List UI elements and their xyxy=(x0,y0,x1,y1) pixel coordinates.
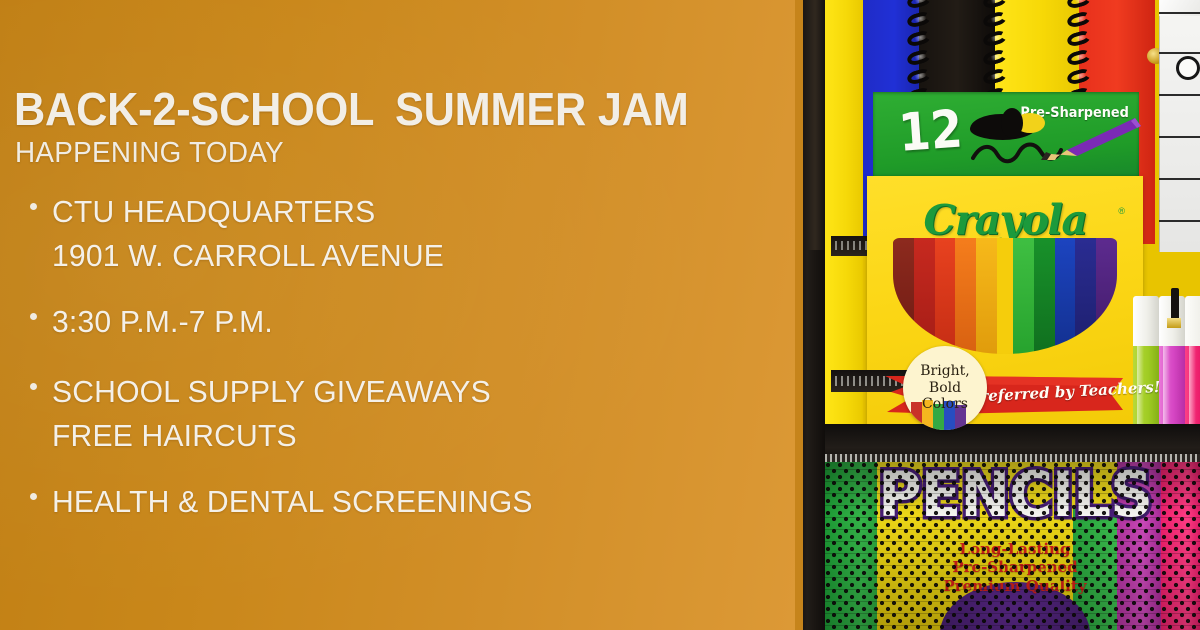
headline-primary: BACK-2-SCHOOL xyxy=(14,83,374,135)
photo-left-bleed xyxy=(795,0,803,630)
spiral-ring xyxy=(1066,29,1093,48)
crayon xyxy=(955,238,976,354)
subheadline: HAPPENING TODAY xyxy=(15,139,284,168)
list-item-line: HEALTH & DENTAL SCREENINGS xyxy=(52,480,747,524)
list-item: HEALTH & DENTAL SCREENINGS xyxy=(28,480,768,524)
bright-bold-colors-badge: Bright,BoldColors xyxy=(903,346,987,430)
purple-pencil-icon xyxy=(1033,116,1143,160)
binder-ring-icon xyxy=(1176,56,1200,80)
headline-secondary: SUMMER JAM xyxy=(395,83,689,135)
marker-cap xyxy=(1185,296,1200,348)
list-item-line: 3:30 P.M.-7 P.M. xyxy=(52,300,747,344)
school-supplies-photo: 12 Pre-Sharpened Crayola ® xyxy=(795,0,1200,630)
rule-line xyxy=(1159,178,1200,180)
page-title: BACK-2-SCHOOLSUMMER JAM xyxy=(14,86,689,132)
list-item-line: 1901 W. CARROLL AVENUE xyxy=(52,234,747,278)
pencils-features: Long-LastingPre-SharpenedPremium Quality xyxy=(943,540,1086,595)
list-item: SCHOOL SUPPLY GIVEAWAYS FREE HAIRCUTS xyxy=(28,370,768,458)
crayon xyxy=(1096,238,1117,354)
spiral-ring xyxy=(982,29,1009,48)
list-item: 3:30 P.M.-7 P.M. xyxy=(28,300,768,344)
list-item-line: CTU HEADQUARTERS xyxy=(52,190,747,234)
crayon xyxy=(1013,238,1034,354)
registered-trademark-icon: ® xyxy=(1118,206,1125,216)
spiral-ring xyxy=(1066,0,1093,10)
rule-line xyxy=(1159,94,1200,96)
rule-line xyxy=(1159,136,1200,138)
label-graphic-blob xyxy=(1001,108,1023,138)
crayon xyxy=(1075,238,1096,354)
rule-line xyxy=(1159,52,1200,54)
ruled-notebook xyxy=(1159,0,1200,252)
list-item-line: FREE HAIRCUTS xyxy=(52,414,747,458)
package-green-stripe xyxy=(825,462,877,630)
spiral-ring xyxy=(1066,10,1093,29)
text-content-block: BACK-2-SCHOOLSUMMER JAM HAPPENING TODAY … xyxy=(0,0,795,630)
spiral-ring xyxy=(982,10,1009,29)
crayon xyxy=(914,238,935,354)
spiral-ring xyxy=(982,67,1009,86)
badge-text: Bright,BoldColors xyxy=(920,363,970,413)
crayola-logo: Crayola xyxy=(924,200,1087,241)
crayola-crayon-box: Crayola ® xyxy=(867,176,1143,444)
rule-line xyxy=(1159,220,1200,222)
bullet-dot-icon xyxy=(30,493,37,500)
list-item-line: SCHOOL SUPPLY GIVEAWAYS xyxy=(52,370,747,414)
crayon-display-window xyxy=(893,238,1117,354)
binder-dark-edge-lower xyxy=(807,250,825,630)
bullet-dot-icon xyxy=(30,383,37,390)
spiral-ring xyxy=(1066,48,1093,67)
marker-black-tip xyxy=(1171,288,1179,322)
marker-cap xyxy=(1133,296,1159,348)
spiral-ring xyxy=(906,48,933,67)
spiral-ring xyxy=(906,67,933,86)
bullet-dot-icon xyxy=(30,203,37,210)
pencils-title: PENCILS xyxy=(878,464,1152,526)
spiral-ring xyxy=(906,0,933,10)
graphic-canvas: BACK-2-SCHOOLSUMMER JAM HAPPENING TODAY … xyxy=(0,0,1200,630)
pencil-count-number: 12 xyxy=(897,104,964,160)
package-pink-stripe xyxy=(1161,462,1200,630)
spiral-ring xyxy=(906,10,933,29)
list-item: CTU HEADQUARTERS 1901 W. CARROLL AVENUE xyxy=(28,190,768,278)
crayon xyxy=(893,238,914,354)
crayon xyxy=(976,238,997,354)
marker-gold-band xyxy=(1167,318,1181,328)
bullet-dot-icon xyxy=(30,313,37,320)
crayon xyxy=(1055,238,1076,354)
crayon-gap xyxy=(997,238,1013,354)
spiral-ring xyxy=(982,48,1009,67)
pencils-package: PENCILS Long-LastingPre-SharpenedPremium… xyxy=(825,462,1200,630)
crayon xyxy=(1034,238,1055,354)
spiral-ring xyxy=(982,0,1009,10)
rule-line xyxy=(1159,12,1200,14)
crayon xyxy=(935,238,956,354)
spiral-ring xyxy=(906,29,933,48)
event-details-list: CTU HEADQUARTERS 1901 W. CARROLL AVENUE … xyxy=(28,190,768,546)
spiral-ring xyxy=(1066,67,1093,86)
pencil-count-label: 12 Pre-Sharpened xyxy=(873,92,1139,176)
